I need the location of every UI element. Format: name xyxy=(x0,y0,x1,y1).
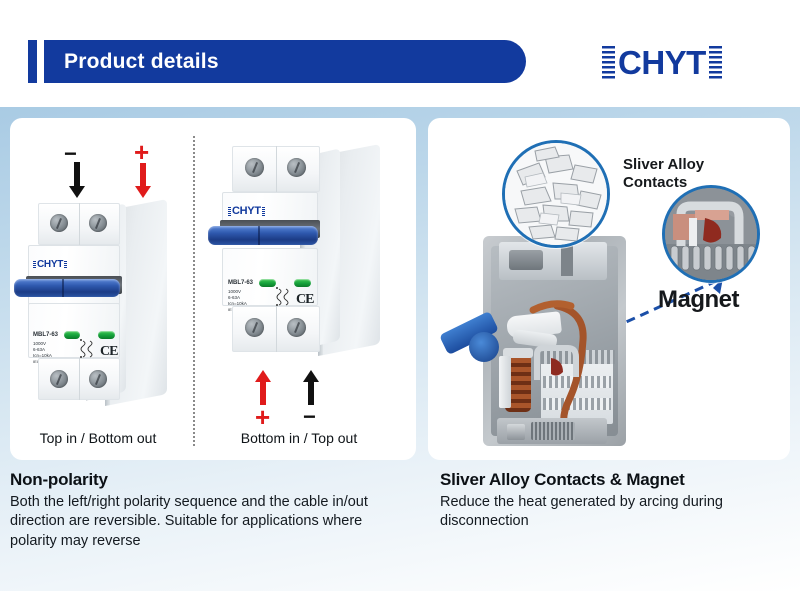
cutaway-breaker-graphic: Sliver Alloy Contacts Magnet xyxy=(428,118,790,460)
callout-contacts-line1: Sliver Alloy xyxy=(623,156,704,174)
caption-top-in-bottom-out: Top in / Bottom out xyxy=(18,430,178,446)
arrow-shaft-a xyxy=(74,162,80,188)
breaker-b-logo-bars-icon-2 xyxy=(262,207,265,216)
breaker-a-toggle-lever[interactable] xyxy=(14,279,120,297)
arrow-shaft-b xyxy=(140,163,146,188)
breaker-b-toggle-seam xyxy=(258,226,260,245)
footer-left-body: Both the left/right polarity sequence an… xyxy=(10,493,410,551)
arrow-head-a xyxy=(69,186,85,198)
logo-text: CHYT xyxy=(615,46,709,79)
breaker-a-brand-logo: CHYT xyxy=(33,259,67,270)
terminal-screw-a2 xyxy=(89,214,107,232)
callout-circle-contacts xyxy=(502,140,610,248)
breaker-a-brand-text: CHYT xyxy=(37,259,63,270)
breaker-a-logo-bars-icon xyxy=(33,261,36,269)
page-header: Product details CHYT xyxy=(0,0,800,107)
caption-bottom-in-top-out: Bottom in / Top out xyxy=(210,430,388,446)
minus-symbol-b: − xyxy=(303,406,316,428)
breaker-a-logo-bars-icon-2 xyxy=(64,261,67,269)
plus-symbol-b: + xyxy=(255,404,270,430)
breaker-a-spec-current: 6-63A xyxy=(33,347,45,352)
callout-circle-magnet xyxy=(662,185,760,283)
arrow-shaft-d xyxy=(308,381,314,405)
footer-left-title: Non-polarity xyxy=(10,470,410,490)
breaker-a-top-seam xyxy=(79,203,80,245)
breaker-b-toggle-lever[interactable] xyxy=(208,226,318,245)
callout-label-magnet: Magnet xyxy=(658,286,739,314)
breaker-a-bottom-seam xyxy=(79,358,80,400)
terminal-screw-a4 xyxy=(89,370,107,388)
breaker-b-spec-voltage: 1000V xyxy=(228,289,241,294)
arrow-head-b xyxy=(135,186,151,198)
breaker-cutaway-body xyxy=(483,236,626,446)
header-title-bar: Product details xyxy=(44,40,526,83)
footer-right-title: Sliver Alloy Contacts & Magnet xyxy=(440,470,790,490)
footer-right-body: Reduce the heat generated by arcing duri… xyxy=(440,493,790,532)
breaker-b-top-seam xyxy=(276,146,277,192)
breaker-a-led-1 xyxy=(64,331,80,339)
terminal-screw-a1 xyxy=(50,214,68,232)
header-accent-bar xyxy=(28,40,37,83)
logo-stripes-left-icon xyxy=(602,46,615,79)
plus-symbol-a: + xyxy=(134,139,149,165)
breaker-a-schematic-icon xyxy=(79,338,99,360)
terminal-screw-a3 xyxy=(50,370,68,388)
footer-non-polarity: Non-polarity Both the left/right polarit… xyxy=(10,470,410,551)
breaker-b-led-2 xyxy=(294,279,311,287)
breaker-a-model: MBL7-63 xyxy=(33,332,58,338)
breaker-b-led-1 xyxy=(259,279,276,287)
footer-contacts-magnet: Sliver Alloy Contacts & Magnet Reduce th… xyxy=(440,470,790,532)
breaker-a-led-2 xyxy=(98,331,115,339)
callout-label-contacts: Sliver Alloy Contacts xyxy=(623,156,704,191)
breaker-b-schematic-icon xyxy=(275,286,295,308)
breaker-a-toggle-seam xyxy=(62,279,64,297)
page-title: Product details xyxy=(64,50,219,74)
breaker-b-brand-text: CHYT xyxy=(232,205,261,217)
breaker-b-bottom-seam xyxy=(276,306,277,352)
breaker-b-brand-logo: CHYT xyxy=(228,205,265,217)
breaker-a-spec-voltage: 1000V xyxy=(33,341,46,346)
brand-logo: CHYT xyxy=(602,44,722,80)
terminal-screw-b3 xyxy=(245,318,264,337)
panel-divider xyxy=(193,136,195,446)
terminal-screw-b1 xyxy=(245,158,264,177)
terminal-screw-b4 xyxy=(287,318,306,337)
breaker-b-model: MBL7-63 xyxy=(228,280,253,286)
breaker-b-spec-current: 6-63A xyxy=(228,295,240,300)
terminal-screw-b2 xyxy=(287,158,306,177)
breaker-b-logo-bars-icon xyxy=(228,207,231,216)
logo-stripes-right-icon xyxy=(709,46,722,79)
